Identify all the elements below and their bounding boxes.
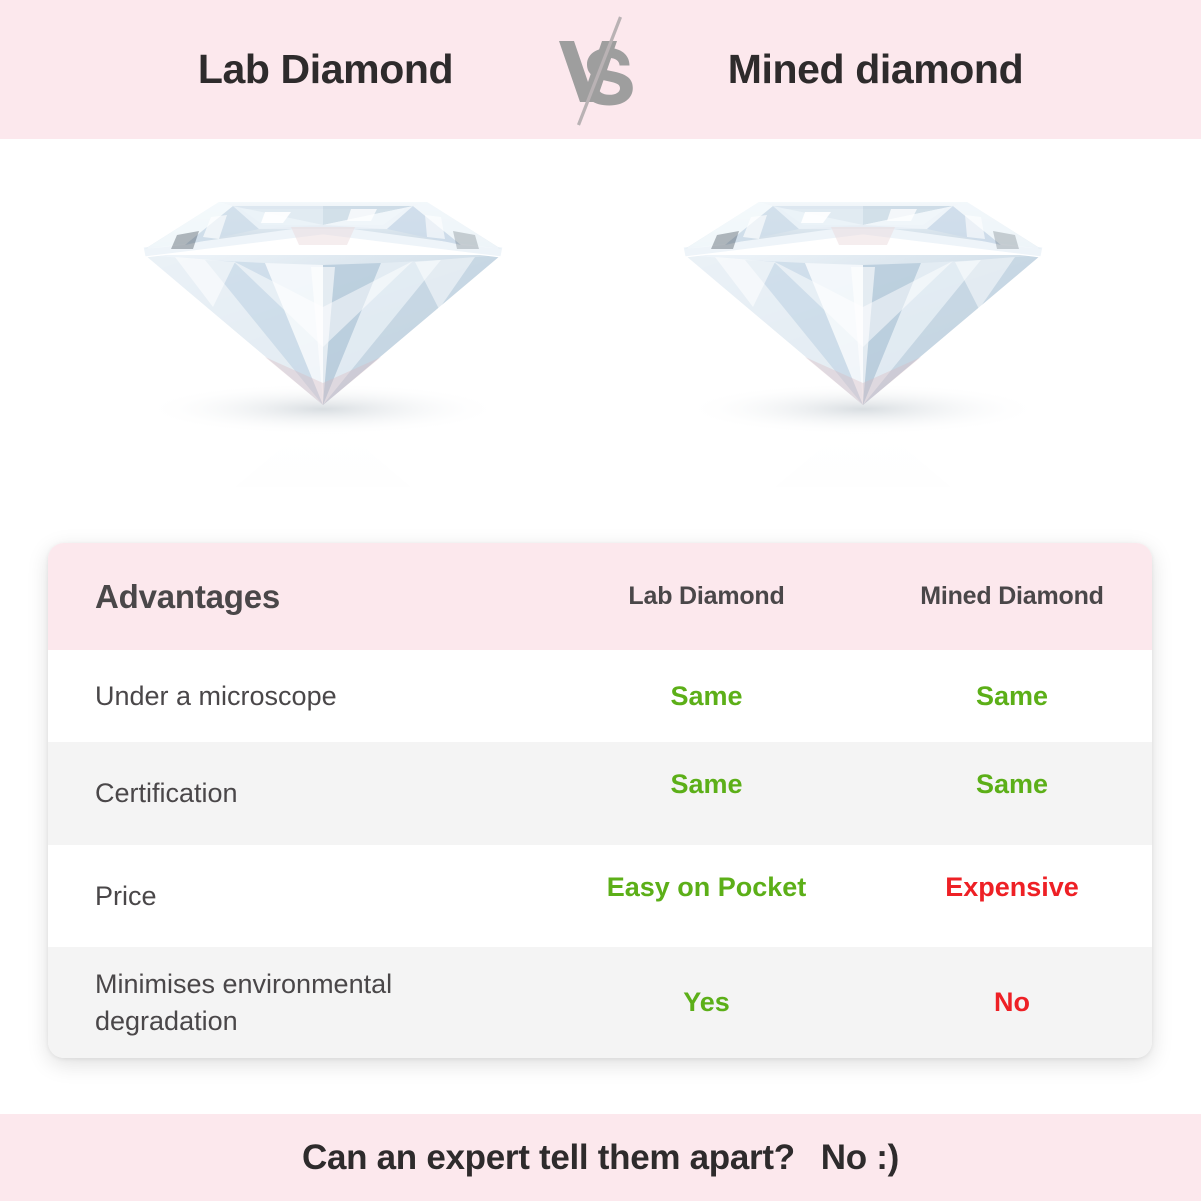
row-mined-cell: Expensive	[872, 845, 1152, 947]
row-mined-value: Expensive	[945, 872, 1079, 903]
versus-icon	[541, 10, 661, 130]
row-lab-cell: Yes	[541, 947, 872, 1058]
row-feature-label: Price	[95, 878, 157, 914]
header-label-advantages: Advantages	[95, 578, 280, 616]
header-cell-mined: Mined Diamond	[872, 543, 1152, 650]
row-feature-cell: Price	[48, 845, 541, 947]
table-row: Minimises environmental degradation Yes …	[48, 947, 1152, 1058]
row-mined-cell: Same	[872, 650, 1152, 742]
row-lab-value: Same	[670, 681, 742, 712]
row-lab-value: Yes	[683, 987, 730, 1018]
lab-diamond-image	[115, 157, 535, 487]
row-lab-value: Easy on Pocket	[607, 872, 807, 903]
lab-diamond-title: Lab Diamond	[111, 46, 541, 93]
diamond-gallery	[0, 139, 1201, 543]
header-label-lab: Lab Diamond	[628, 582, 784, 611]
row-lab-cell: Same	[541, 742, 872, 845]
comparison-table-card: Advantages Lab Diamond Mined Diamond Und…	[48, 543, 1152, 1058]
row-mined-value: Same	[976, 769, 1048, 800]
row-lab-cell: Easy on Pocket	[541, 845, 872, 947]
table-row: Price Easy on Pocket Expensive	[48, 845, 1152, 947]
row-mined-value: Same	[976, 681, 1048, 712]
header-cell-lab: Lab Diamond	[541, 543, 872, 650]
header-label-mined: Mined Diamond	[920, 582, 1104, 611]
row-mined-value: No	[994, 987, 1030, 1018]
row-lab-cell: Same	[541, 650, 872, 742]
row-feature-label: Under a microscope	[95, 678, 337, 714]
top-banner: Lab Diamond Mined diamond	[0, 0, 1201, 139]
table-header-row: Advantages Lab Diamond Mined Diamond	[48, 543, 1152, 650]
banner-inner: Lab Diamond Mined diamond	[0, 10, 1201, 130]
row-mined-cell: Same	[872, 742, 1152, 845]
bottom-banner: Can an expert tell them apart? No :)	[0, 1114, 1201, 1201]
row-feature-cell: Certification	[48, 742, 541, 845]
row-feature-label: Certification	[95, 775, 238, 811]
row-mined-cell: No	[872, 947, 1152, 1058]
footer-text: Can an expert tell them apart? No :)	[302, 1138, 899, 1178]
row-feature-label: Minimises environmental degradation	[95, 966, 525, 1039]
mined-diamond-image	[655, 157, 1075, 487]
header-cell-advantages: Advantages	[48, 543, 541, 650]
row-feature-cell: Minimises environmental degradation	[48, 947, 541, 1058]
table-row: Certification Same Same	[48, 742, 1152, 845]
mined-diamond-title: Mined diamond	[661, 46, 1091, 93]
footer-question: Can an expert tell them apart?	[302, 1138, 795, 1178]
table-row: Under a microscope Same Same	[48, 650, 1152, 742]
footer-answer: No :)	[821, 1138, 899, 1178]
row-lab-value: Same	[670, 769, 742, 800]
row-feature-cell: Under a microscope	[48, 650, 541, 742]
